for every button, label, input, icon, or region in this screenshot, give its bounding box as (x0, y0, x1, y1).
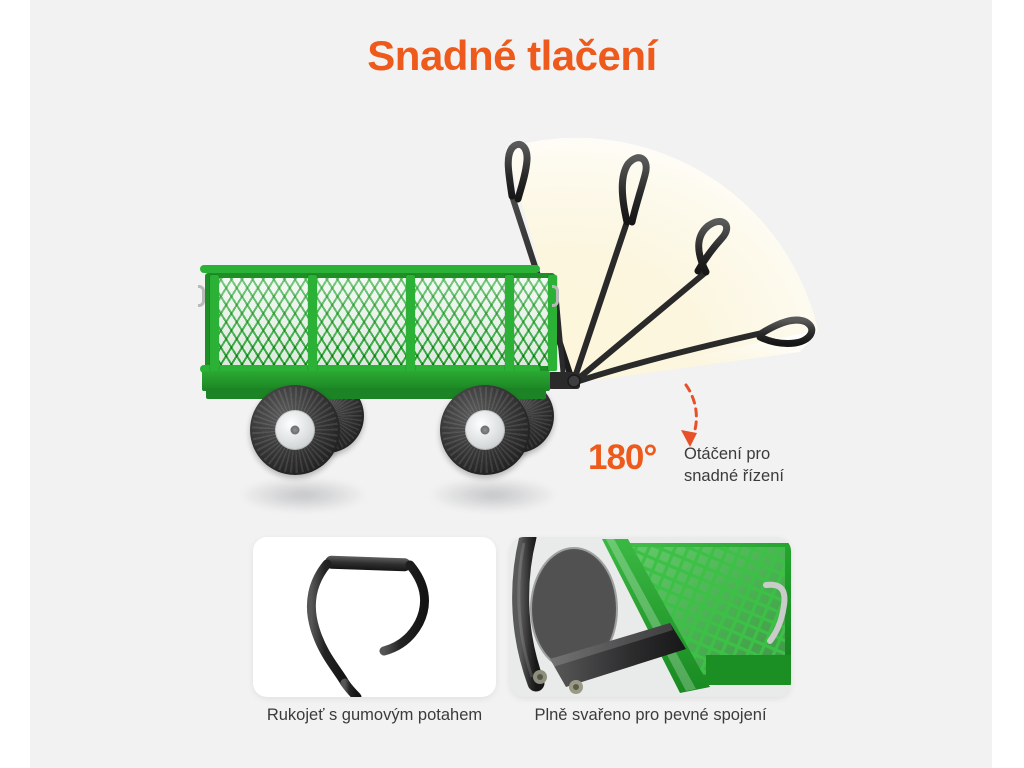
welded-joint-card (510, 537, 791, 697)
page-title: Snadné tlačení (0, 32, 1024, 80)
rubber-grip-handle-photo (253, 537, 496, 697)
bed-post-1 (210, 275, 219, 371)
rotation-description: Otáčení pro snadné řízení (684, 443, 784, 487)
card-caption-2: Plně svařeno pro pevné spojení (510, 706, 791, 725)
bed-top-rail (200, 265, 540, 273)
handle-grip-card (253, 537, 496, 697)
wheel-rear-outer (250, 385, 340, 475)
rotation-degrees-label: 180° (588, 438, 656, 478)
wheel-shadow-rear (428, 477, 558, 513)
product-feature-slide: Snadné tlačení (0, 0, 1024, 768)
bed-post-4 (505, 275, 514, 371)
rotation-description-line2: snadné řízení (684, 465, 784, 487)
bed-post-3 (406, 275, 415, 371)
side-latch-hook-left (198, 285, 205, 307)
card-caption-1: Rukojeť s gumovým potahem (253, 706, 496, 725)
mesh-shading (210, 278, 550, 366)
wheel-shadow-front (238, 477, 368, 513)
garden-cart-illustration (190, 255, 610, 515)
bed-post-2 (308, 275, 317, 371)
welded-frame-closeup-photo (510, 537, 791, 697)
wheel-front-outer (440, 385, 530, 475)
side-latch-hook-right (552, 285, 559, 307)
cart-bed (205, 273, 555, 371)
rotation-description-line1: Otáčení pro (684, 443, 784, 465)
